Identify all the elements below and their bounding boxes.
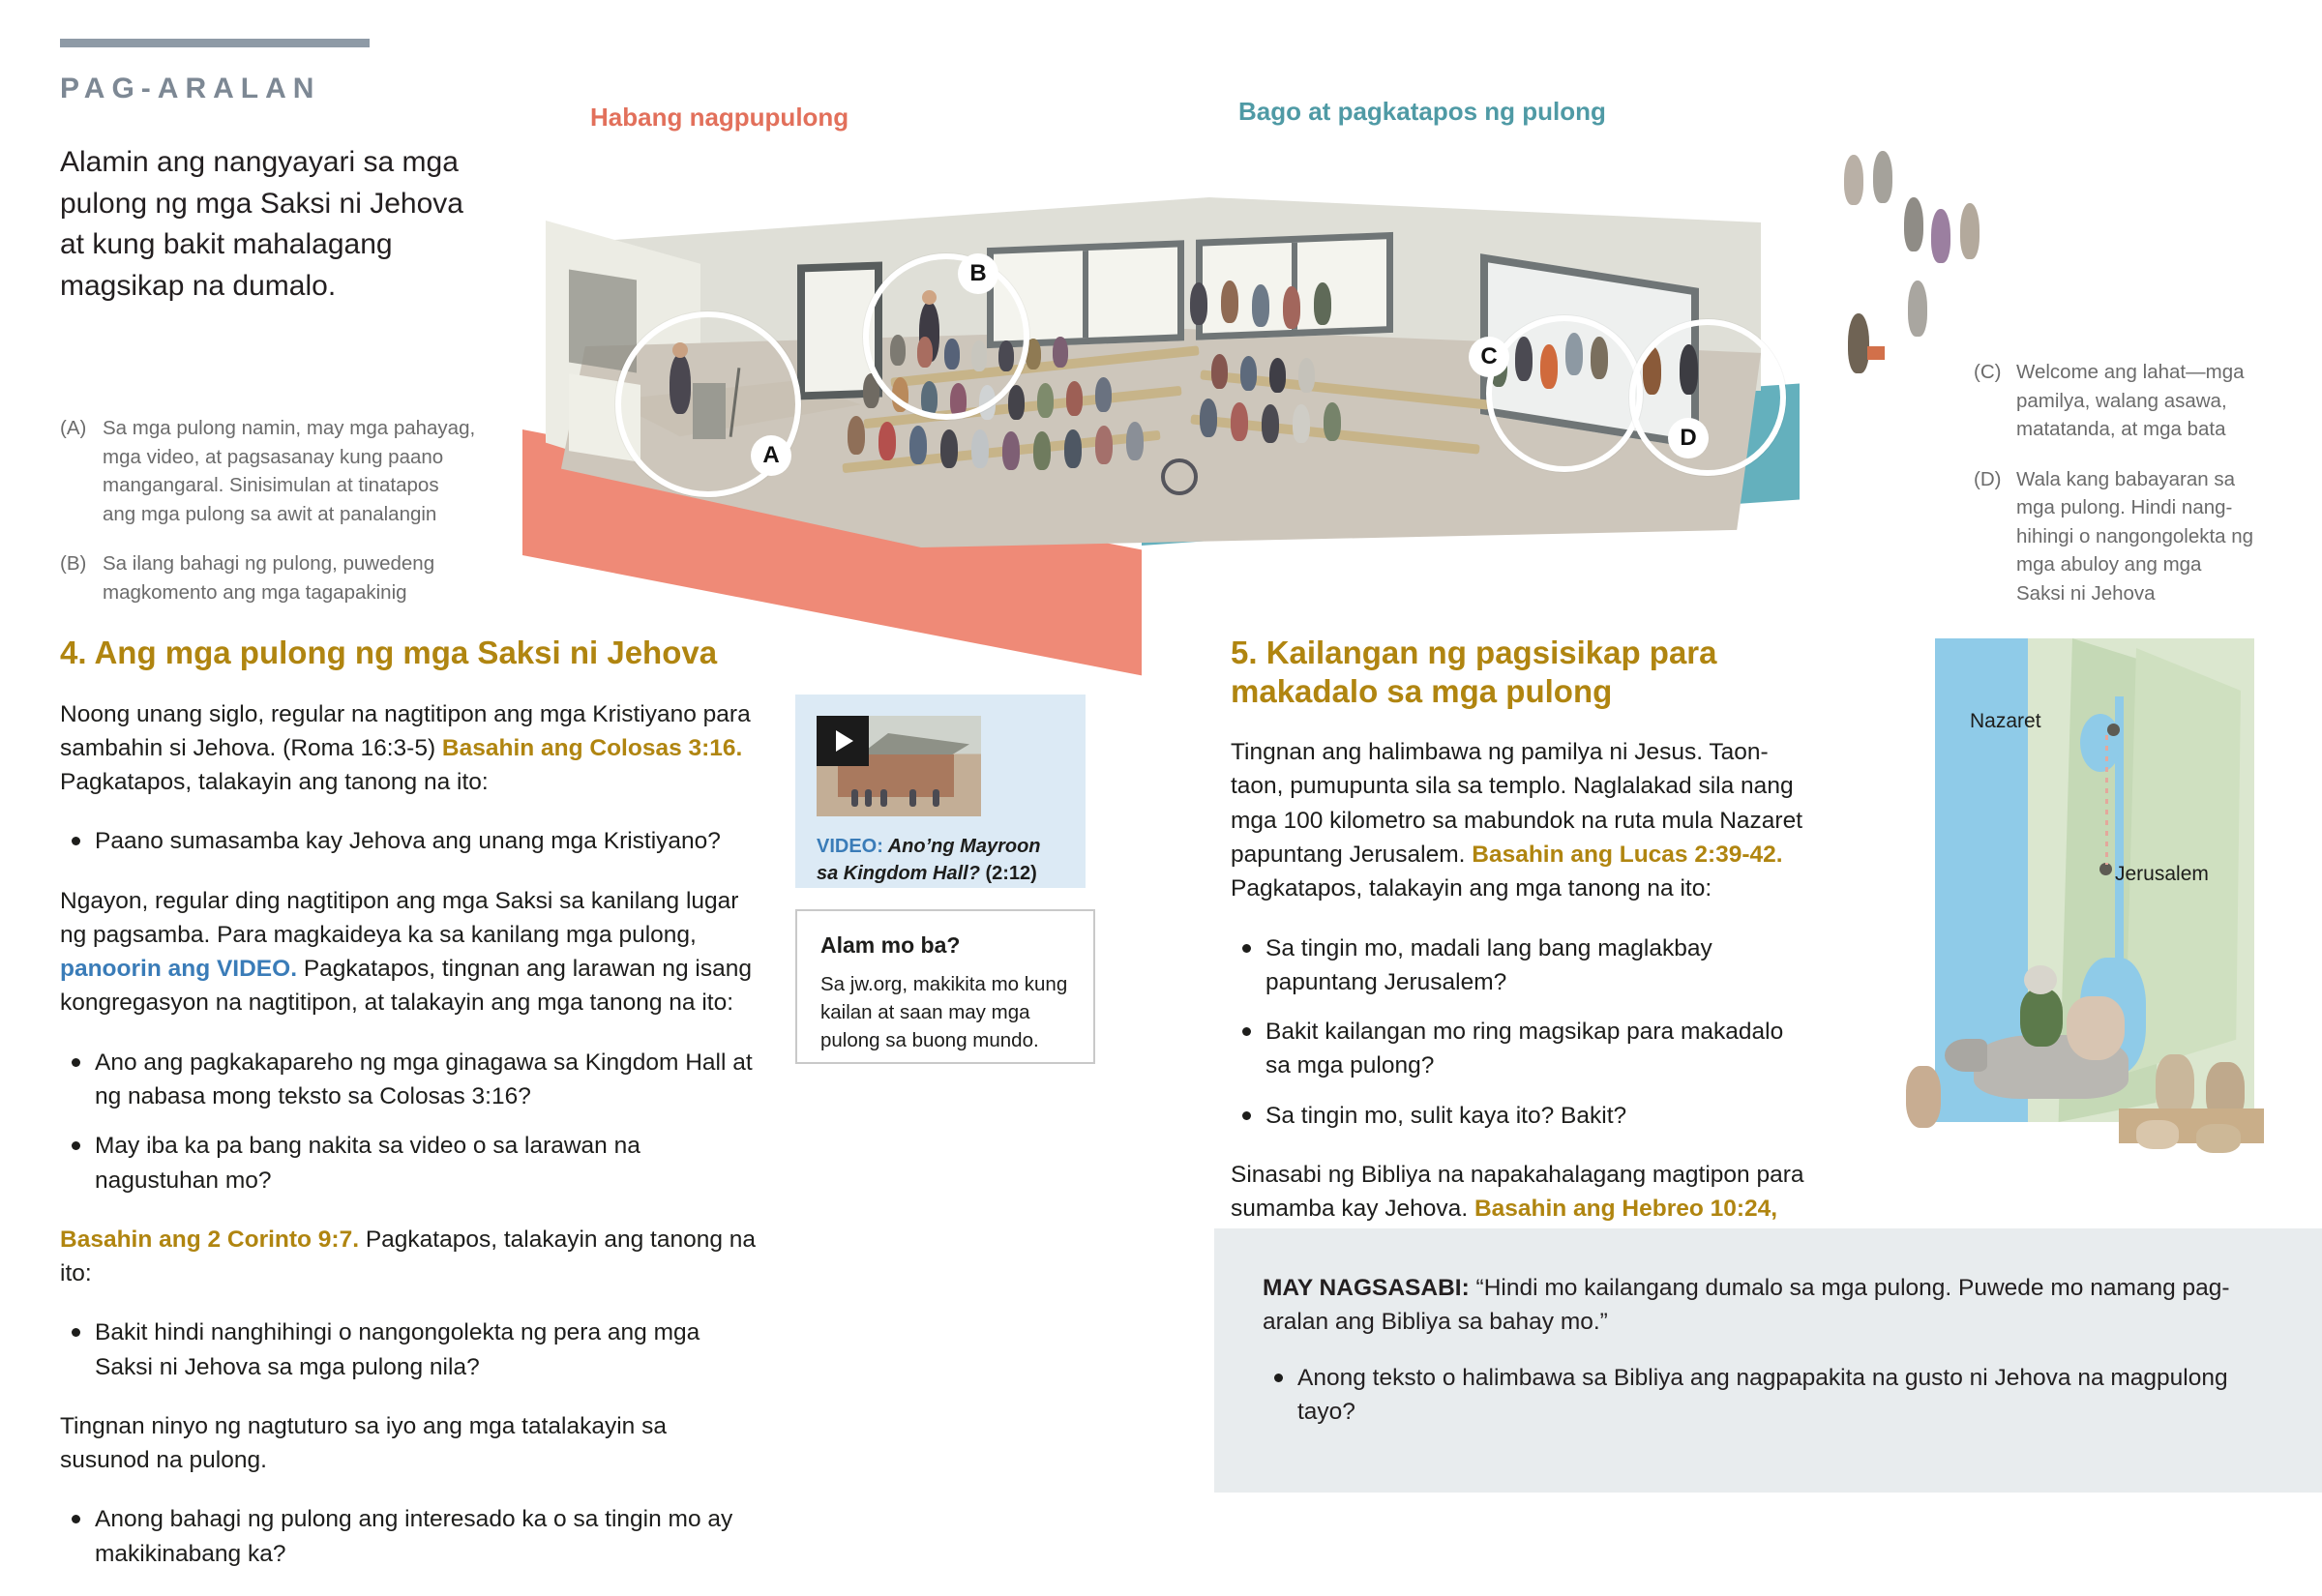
- child-figure: [1906, 1066, 1941, 1128]
- s4-p1-text-b: Pagkatapos, talakayin ang tanong na ito:: [60, 769, 489, 795]
- question-item: Anong bahagi ng pulong ang interesado ka…: [95, 1502, 757, 1571]
- section-4-question-list-4: Anong bahagi ng pulong ang interesado ka…: [60, 1502, 757, 1571]
- attendee-figure: [1269, 358, 1286, 393]
- question-item: Bakit kailangan mo ring magsikap para ma…: [1265, 1015, 1811, 1083]
- video-callout[interactable]: VIDEO: Ano’ng Mayroon sa Kingdom Hall? (…: [795, 695, 1086, 888]
- section-4-paragraph-4: Tingnan ninyo ng nagtuturo sa iyo ang mg…: [60, 1409, 757, 1478]
- attendee-figure: [1053, 337, 1068, 368]
- marker-label-c: C: [1469, 337, 1509, 377]
- video-kicker: VIDEO:: [817, 836, 883, 857]
- luggage-sack: [2067, 996, 2125, 1060]
- label-during-meeting: Habang nagpupulong: [590, 103, 848, 133]
- donkey-head: [1945, 1039, 1987, 1072]
- question-item: Anong teksto o halimbawa sa Bibliya ang …: [1297, 1361, 2274, 1430]
- s4-p1-scripture-link[interactable]: Basahin ang Colosas 3:16.: [442, 735, 742, 761]
- sack-bundle: [2136, 1120, 2179, 1149]
- question-item: Sa tingin mo, sulit kaya ito? Bakit?: [1265, 1099, 1811, 1133]
- rider-head-turban: [2024, 965, 2057, 994]
- did-you-know-heading: Alam mo ba?: [820, 932, 1070, 959]
- marker-circle-b: [863, 253, 1029, 420]
- thumbnail-figure: [865, 789, 872, 807]
- section-4-paragraph-3: Basahin ang 2 Corinto 9:7. Pagkatapos, t…: [60, 1223, 757, 1291]
- section-4-question-list-1: Paano sumasamba kay Jehova ang unang mga…: [60, 824, 757, 858]
- map-label-jerusalem: Jerusalem: [2115, 863, 2209, 886]
- attendee-figure: [1095, 426, 1113, 464]
- footnote-b: (B) Sa ilang bahagi ng pulong, puwedeng …: [60, 549, 476, 606]
- section-4-paragraph-1: Noong unang siglo, regular na nagtitipon…: [60, 697, 757, 800]
- label-before-after-meeting: Bago at pagkatapos ng pulong: [1238, 97, 1606, 127]
- attendee-figure: [1262, 404, 1279, 443]
- sea-of-galilee: [2080, 714, 2121, 772]
- someone-says-question-list: Anong teksto o halimbawa sa Bibliya ang …: [1263, 1361, 2274, 1430]
- video-thumbnail[interactable]: [817, 716, 981, 816]
- footnote-c-text: Welcome ang lahat—mga pamilya, walang as…: [2016, 358, 2254, 444]
- arriving-attendees-group: [1732, 147, 2012, 476]
- arriving-figure: [1931, 209, 1950, 263]
- thumbnail-figure: [933, 789, 939, 807]
- attendee-figure: [1066, 381, 1083, 416]
- footnote-c-tag: (C): [1974, 358, 2016, 444]
- attendee-figure: [909, 426, 927, 464]
- sack-bundle: [2196, 1124, 2241, 1153]
- attendee-figure: [1008, 385, 1025, 420]
- video-duration: (2:12): [985, 863, 1036, 884]
- thumbnail-figure: [851, 789, 858, 807]
- nazareth-jerusalem-map: Nazaret Jerusalem: [1877, 638, 2283, 1180]
- map-dot-nazareth: [2107, 724, 2120, 736]
- footnote-c: (C) Welcome ang lahat—mga pamilya, walan…: [1974, 358, 2254, 444]
- attendee-figure: [971, 429, 989, 468]
- standing-figure: [1221, 281, 1238, 323]
- family-travel-scene: [1877, 938, 2283, 1180]
- did-you-know-text: Sa jw.org, makikita mo kung kailan at sa…: [820, 970, 1070, 1054]
- arriving-figure: [1844, 155, 1863, 205]
- attendee-figure: [1064, 429, 1082, 468]
- video-caption: VIDEO: Ano’ng Mayroon sa Kingdom Hall? (…: [817, 834, 1064, 887]
- arriving-figure: [1904, 197, 1923, 251]
- standing-figure: [1190, 282, 1207, 325]
- map-label-nazareth: Nazaret: [1970, 710, 2041, 733]
- footnote-b-text: Sa ilang bahagi ng pulong, puwedeng magk…: [103, 549, 476, 606]
- footnote-b-tag: (B): [60, 549, 103, 606]
- someone-says-quote-line: MAY NAGSASABI: “Hindi mo kailangang duma…: [1263, 1271, 2274, 1340]
- intro-block: PAG-ARALAN Alamin ang nangyayari sa mga …: [60, 39, 486, 307]
- marker-label-b: B: [958, 253, 998, 294]
- attendee-figure: [1240, 356, 1257, 391]
- footnote-a-tag: (A): [60, 414, 103, 528]
- attendee-figure: [1126, 422, 1144, 460]
- attendee-figure: [848, 416, 865, 455]
- did-you-know-box: Alam mo ba? Sa jw.org, makikita mo kung …: [795, 909, 1095, 1064]
- question-item: Sa tingin mo, madali lang bang maglakbay…: [1265, 931, 1811, 1000]
- footnote-d-text: Wala kang babayaran sa mga pulong. Hindi…: [2016, 465, 2254, 608]
- attendee-figure: [1037, 383, 1054, 418]
- eyebrow-label: PAG-ARALAN: [60, 73, 486, 105]
- section-5-paragraph-1: Tingnan ang halimbawa ng pamilya ni Jesu…: [1231, 735, 1811, 905]
- arriving-figure: [1873, 151, 1892, 203]
- play-icon[interactable]: [817, 716, 869, 766]
- footnote-d-tag: (D): [1974, 465, 2016, 608]
- intro-lead-text: Alamin ang nangyayari sa mga pulong ng m…: [60, 142, 476, 307]
- question-item: Bakit hindi nanghihingi o nangongolekta …: [95, 1315, 757, 1384]
- rider-figure-torso: [2020, 989, 2063, 1047]
- standing-figure: [1252, 284, 1269, 327]
- someone-says-kicker: MAY NAGSASABI:: [1263, 1275, 1470, 1301]
- top-rule: [60, 39, 370, 47]
- standing-figure: [1314, 282, 1331, 325]
- wheelchair-icon: [1161, 458, 1198, 495]
- attendee-figure: [1231, 402, 1248, 441]
- section-5-question-list-1: Sa tingin mo, madali lang bang maglakbay…: [1231, 931, 1811, 1133]
- attendee-figure: [1200, 399, 1217, 437]
- s4-p2-text-a: Ngayon, regular ding nagtitipon ang mga …: [60, 888, 738, 948]
- section-4-paragraph-2: Ngayon, regular ding nagtitipon ang mga …: [60, 884, 757, 1020]
- standing-figure: [1283, 286, 1300, 329]
- travel-route-line: [2105, 735, 2108, 865]
- someone-says-box: MAY NAGSASABI: “Hindi mo kailangang duma…: [1214, 1228, 2322, 1493]
- footnote-d: (D) Wala kang babayaran sa mga pulong. H…: [1974, 465, 2254, 608]
- attendee-figure: [1324, 402, 1341, 441]
- marker-label-d: D: [1668, 418, 1709, 458]
- hall-cutaway: A B C D: [522, 139, 1800, 589]
- marker-circle-c: [1486, 315, 1643, 472]
- s4-p2-video-link[interactable]: panoorin ang VIDEO.: [60, 956, 297, 982]
- attendee-figure: [878, 422, 896, 460]
- question-item: Paano sumasamba kay Jehova ang unang mga…: [95, 824, 757, 858]
- footnote-a-text: Sa mga pulong namin, may mga pahayag, mg…: [103, 414, 476, 528]
- s5-p1-scripture-link[interactable]: Basahin ang Lucas 2:39-42.: [1472, 842, 1782, 868]
- footnote-a: (A) Sa mga pulong namin, may mga pahayag…: [60, 414, 476, 528]
- attendee-figure: [1002, 431, 1020, 470]
- attendee-figure: [940, 429, 958, 468]
- question-item: Ano ang pagkakapareho ng mga ginagawa sa…: [95, 1046, 757, 1114]
- attendee-figure: [1095, 377, 1112, 412]
- arriving-figure: [1848, 313, 1869, 373]
- attendee-figure: [1033, 431, 1051, 470]
- section-4-question-list-3: Bakit hindi nanghihingi o nangongolekta …: [60, 1315, 757, 1384]
- s5-p1-text-b: Pagkatapos, talakayin ang mga tanong na …: [1231, 875, 1712, 901]
- section-4-heading: 4. Ang mga pulong ng mga Saksi ni Jehova: [60, 634, 757, 672]
- briefcase-icon: [1867, 346, 1885, 360]
- thumbnail-figure: [880, 789, 887, 807]
- section-4: 4. Ang mga pulong ng mga Saksi ni Jehova…: [60, 634, 757, 1596]
- attendee-figure: [1293, 404, 1310, 443]
- attendee-figure: [1298, 358, 1315, 393]
- kingdom-hall-illustration: Habang nagpupulong Bago at pagkatapos ng…: [503, 89, 2012, 602]
- marker-label-a: A: [751, 435, 791, 476]
- attendee-figure: [1211, 354, 1228, 389]
- section-4-question-list-2: Ano ang pagkakapareho ng mga ginagawa sa…: [60, 1046, 757, 1197]
- illustration-footnotes-right: (C) Welcome ang lahat—mga pamilya, walan…: [1974, 358, 2254, 629]
- question-item: May iba ka pa bang nakita sa video o sa …: [95, 1129, 757, 1197]
- illustration-footnotes-left: (A) Sa mga pulong namin, may mga pahayag…: [60, 414, 476, 628]
- arriving-figure: [1908, 281, 1927, 337]
- arriving-figure: [1960, 203, 1980, 259]
- thumbnail-figure: [909, 789, 916, 807]
- section-5-heading: 5. Kailangan ng pagsisikap para makadalo…: [1231, 634, 1811, 710]
- s4-p3-scripture-link[interactable]: Basahin ang 2 Corinto 9:7.: [60, 1227, 359, 1253]
